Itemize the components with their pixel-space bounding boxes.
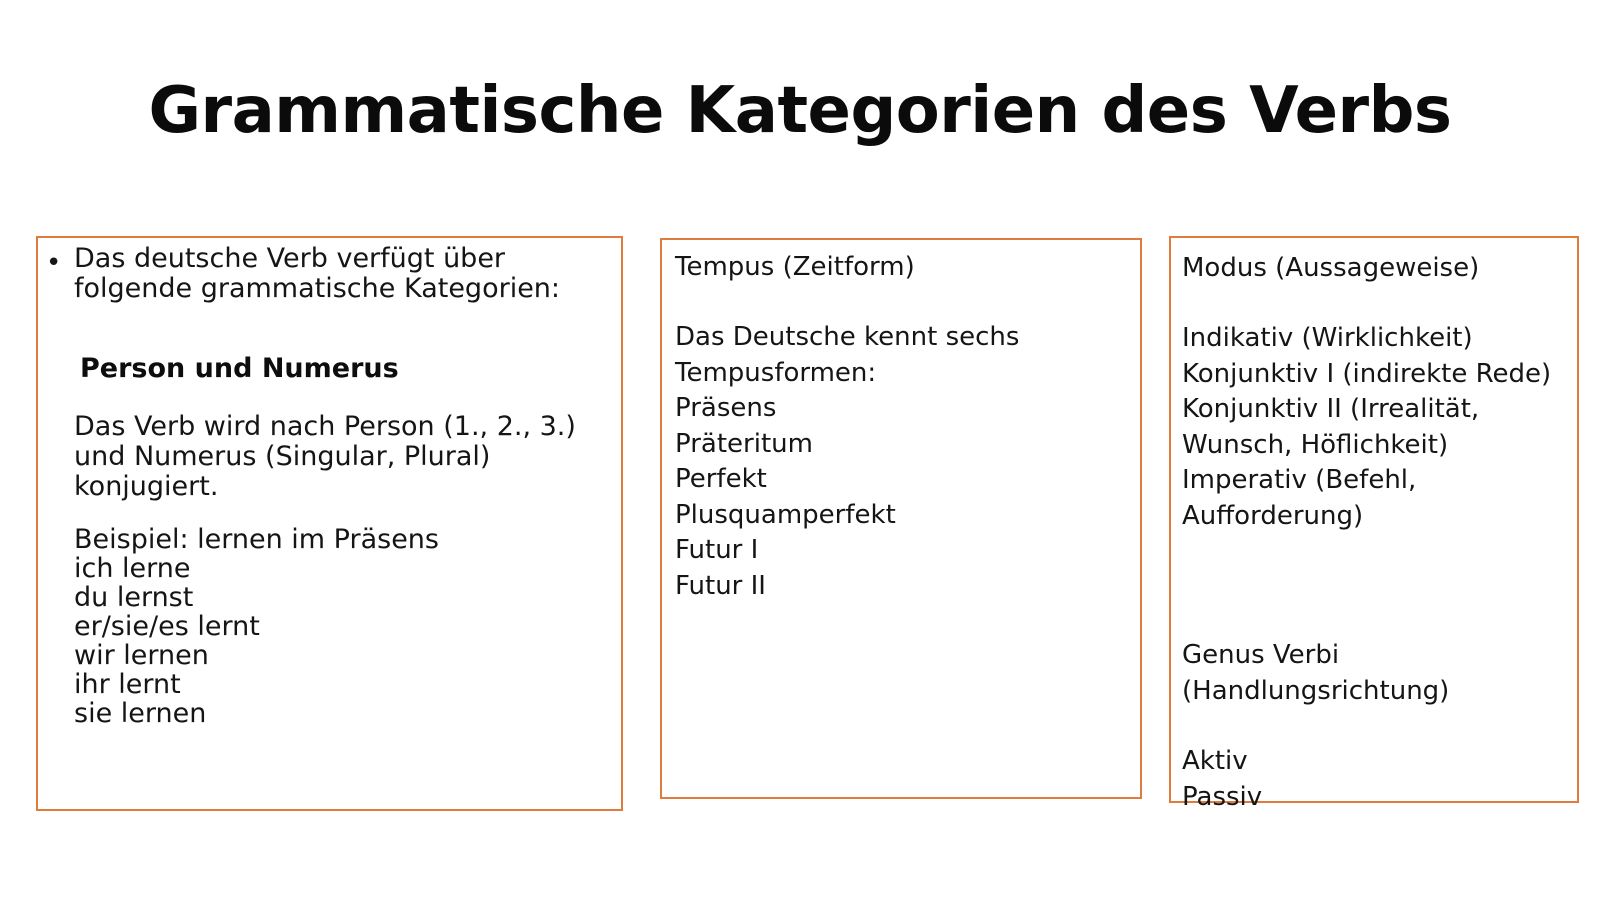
tempus-box-heading: Tempus (Zeitform): [675, 250, 1125, 285]
modus-box-heading: Modus (Aussageweise): [1182, 251, 1582, 286]
modus-box-voices-list: Aktiv Passiv: [1182, 744, 1582, 815]
bullet-icon: •: [46, 248, 66, 278]
tempus-box-forms-list: Das Deutsche kennt sechs Tempusformen: P…: [675, 320, 1125, 604]
modus-box-genus-verbi-heading: Genus Verbi (Handlungsrichtung): [1182, 638, 1582, 709]
page-title: Grammatische Kategorien des Verbs: [0, 78, 1600, 145]
person-box-intro-text: Das deutsche Verb verfügt über folgende …: [74, 244, 594, 304]
person-box-body-text: Das Verb wird nach Person (1., 2., 3.) u…: [74, 412, 614, 502]
person-box-example-list: Beispiel: lernen im Präsens ich lerne du…: [74, 525, 594, 728]
slide-canvas: Grammatische Kategorien des Verbs • Das …: [0, 0, 1600, 899]
modus-box-moods-list: Indikativ (Wirklichkeit) Konjunktiv I (i…: [1182, 321, 1582, 534]
person-box-heading: Person und Numerus: [80, 354, 600, 384]
